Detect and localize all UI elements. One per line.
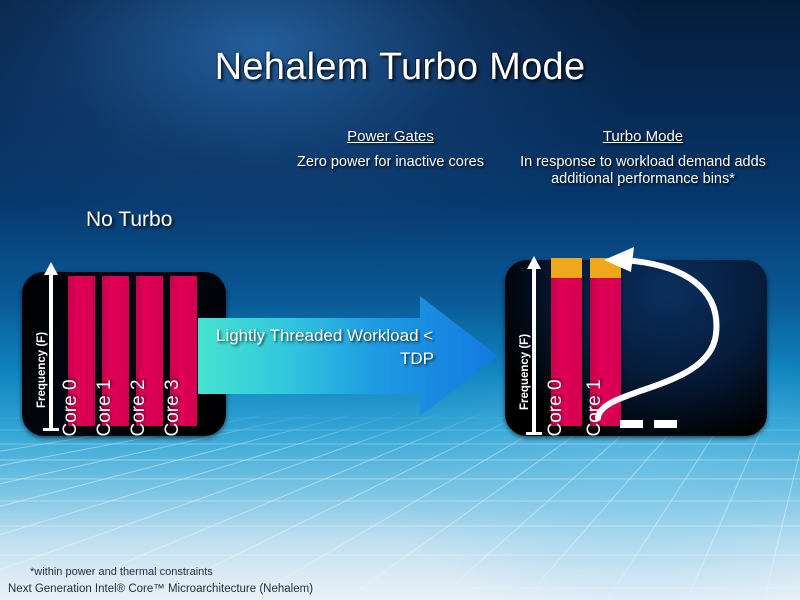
turbo-bins-callout-arrow	[590, 238, 770, 438]
axis-base-cap	[43, 428, 59, 431]
axis-base-cap	[526, 432, 542, 435]
callout-power-gates-body: Zero power for inactive cores	[258, 154, 523, 171]
core-bar: Core 1	[102, 276, 129, 426]
workload-arrow: Lightly Threaded Workload < TDP	[198, 296, 498, 416]
footnote: *within power and thermal constraints	[30, 566, 213, 578]
axis-label-frequency-left: Frequency (F)	[36, 332, 48, 408]
workload-arrow-line1: Lightly Threaded Workload <	[216, 324, 468, 347]
source-line: Next Generation Intel® Core™ Microarchit…	[8, 583, 313, 595]
slide: Nehalem Turbo Mode Power Gates Zero powe…	[0, 0, 800, 600]
axis-label-frequency-right: Frequency (F)	[519, 334, 531, 410]
core-bar-label: Core 0	[545, 379, 567, 436]
core-bar: Core 0	[551, 278, 582, 426]
workload-arrow-text: Lightly Threaded Workload < TDP	[216, 324, 468, 370]
core-bar: Core 0	[68, 276, 95, 426]
workload-arrow-line2: TDP	[216, 347, 468, 370]
core-bar-label: Core 2	[128, 379, 150, 436]
core-bar: Core 2	[136, 276, 163, 426]
core-bar-label: Core 0	[60, 379, 82, 436]
callout-turbo-mode-heading: Turbo Mode	[520, 128, 766, 145]
page-title: Nehalem Turbo Mode	[0, 46, 800, 89]
callout-power-gates-heading: Power Gates	[258, 128, 523, 145]
core-bar: Core 3	[170, 276, 197, 426]
axis-stem	[532, 266, 536, 432]
turbo-bin-cap	[551, 258, 582, 278]
section-label-no-turbo: No Turbo	[86, 208, 172, 232]
callout-power-gates: Power Gates Zero power for inactive core…	[258, 128, 523, 171]
core-bar-label: Core 1	[94, 379, 116, 436]
callout-turbo-mode-body: In response to workload demand adds addi…	[520, 154, 766, 188]
axis-stem	[49, 272, 53, 428]
callout-turbo-mode: Turbo Mode In response to workload deman…	[520, 128, 766, 188]
core-bar-label: Core 3	[162, 379, 184, 436]
